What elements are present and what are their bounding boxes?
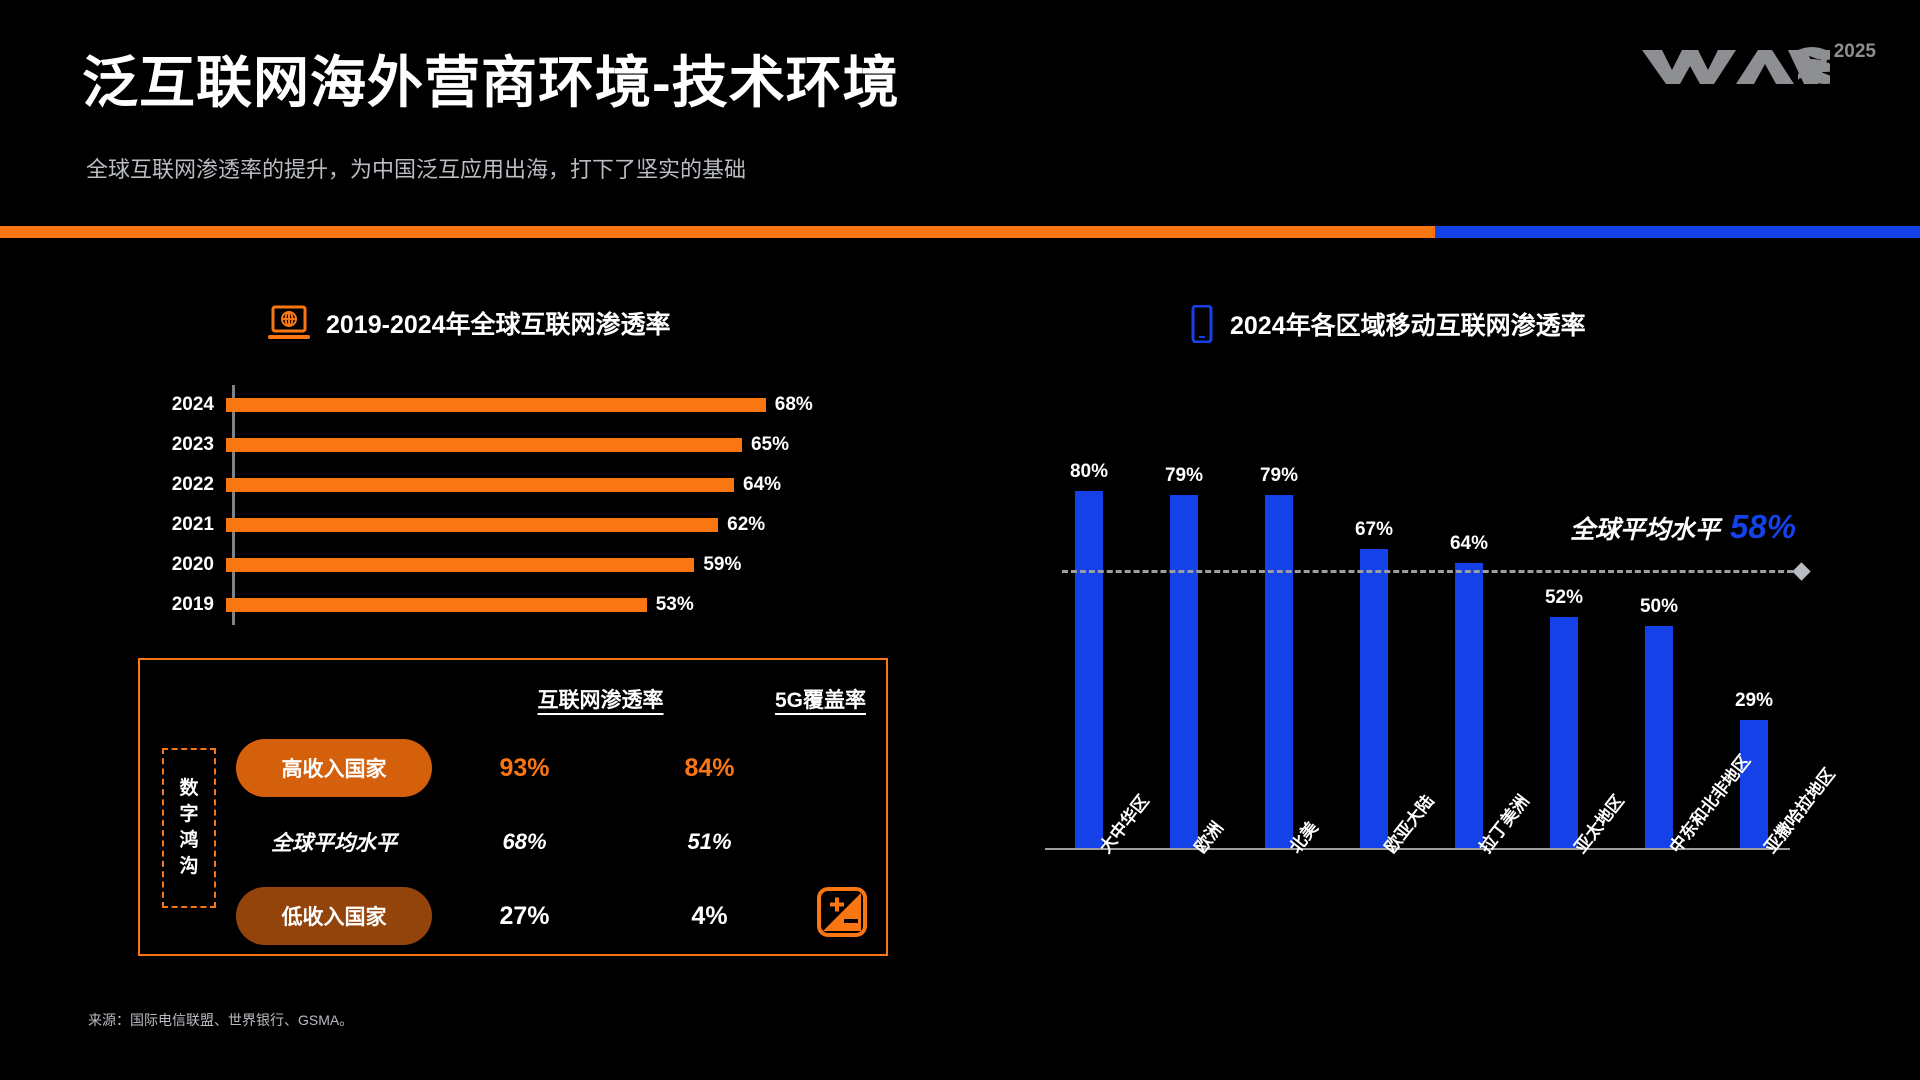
- right-section-heading: 2024年各区域移动互联网渗透率: [1190, 305, 1586, 343]
- divider-orange-segment: [0, 226, 1435, 238]
- bar-value-label: 68%: [775, 394, 813, 416]
- bar-column: 52%: [1533, 420, 1595, 850]
- bar: [1455, 563, 1483, 850]
- bar-container: 64%: [226, 467, 781, 503]
- bar-row: 202468%: [86, 387, 813, 423]
- bar: [226, 598, 647, 612]
- slide-root: 泛互联网海外营商环境-技术环境 全球互联网渗透率的提升，为中国泛互应用出海，打下…: [0, 0, 1920, 1080]
- bar-row: 202264%: [86, 467, 781, 503]
- row-label-global-average: 全球平均水平: [236, 813, 432, 871]
- reference-line-marker: [1792, 562, 1810, 580]
- bar-column: 80%: [1058, 420, 1120, 850]
- wave-logo: 2025: [1640, 40, 1876, 86]
- left-section-heading: 2019-2024年全球互联网渗透率: [268, 305, 671, 341]
- bar: [1550, 617, 1578, 850]
- table-cell: 27%: [432, 902, 617, 931]
- table-cell: 93%: [432, 754, 617, 783]
- bar-category-label: 2024: [86, 394, 226, 416]
- bar-column: 79%: [1248, 420, 1310, 850]
- bar-row: 201953%: [86, 587, 694, 623]
- global-average-value: 58%: [1730, 508, 1796, 546]
- bar-column: 67%: [1343, 420, 1405, 850]
- bar-category-label: 2022: [86, 474, 226, 496]
- bar: [226, 518, 718, 532]
- row-label-high-income: 高收入国家: [236, 739, 432, 797]
- bar: [226, 558, 694, 572]
- bar-category-label: 2020: [86, 554, 226, 576]
- bar: [226, 398, 766, 412]
- global-average-annotation: 全球平均水平 58%: [1570, 508, 1796, 546]
- page-subtitle: 全球互联网渗透率的提升，为中国泛互应用出海，打下了坚实的基础: [86, 152, 746, 184]
- table-column-header: 5G覆盖率: [728, 684, 913, 714]
- bar: [1645, 626, 1673, 850]
- digital-divide-table: 互联网渗透率 5G覆盖率 数 字 鸿 沟 高收入国家 93% 84% 全球平均水…: [138, 658, 888, 956]
- right-section-heading-label: 2024年各区域移动互联网渗透率: [1230, 306, 1586, 342]
- table-column-header: 互联网渗透率: [508, 684, 693, 714]
- bar: [1075, 491, 1103, 850]
- row-label-low-income: 低收入国家: [236, 887, 432, 945]
- bar-row: 202059%: [86, 547, 741, 583]
- bar-category-label: 2023: [86, 434, 226, 456]
- bar-column: 64%: [1438, 420, 1500, 850]
- bar: [1265, 495, 1293, 850]
- table-cell: 4%: [617, 902, 802, 931]
- bar-container: 62%: [226, 507, 765, 543]
- bar-value-label: 65%: [751, 434, 789, 456]
- table-row: 低收入国家 27% 4%: [236, 884, 886, 948]
- side-label-char: 沟: [179, 856, 198, 878]
- bar: [226, 478, 734, 492]
- bar-row: 202162%: [86, 507, 765, 543]
- bar: [1360, 549, 1388, 850]
- global-average-label: 全球平均水平: [1570, 510, 1720, 546]
- bar: [1170, 495, 1198, 850]
- table-row: 高收入国家 93% 84%: [236, 736, 886, 800]
- divider-bar: [0, 226, 1920, 238]
- bar-column: 79%: [1153, 420, 1215, 850]
- global-average-reference-line: [1062, 570, 1802, 573]
- side-label-char: 鸿: [179, 830, 198, 852]
- bar-value-label: 80%: [1070, 461, 1108, 483]
- bar-value-label: 79%: [1165, 465, 1203, 487]
- bar-column: 50%: [1628, 420, 1690, 850]
- laptop-globe-icon: [268, 305, 310, 341]
- side-label-char: 字: [179, 804, 198, 826]
- contrast-plus-minus-icon: [816, 886, 868, 938]
- bar-category-label: 2019: [86, 594, 226, 616]
- left-section-heading-label: 2019-2024年全球互联网渗透率: [326, 305, 671, 341]
- bar-container: 65%: [226, 427, 789, 463]
- table-row: 全球平均水平 68% 51%: [236, 810, 886, 874]
- global-internet-penetration-chart: 202468%202365%202264%202162%202059%20195…: [86, 385, 846, 625]
- bar-value-label: 79%: [1260, 465, 1298, 487]
- bar-value-label: 59%: [703, 554, 741, 576]
- bar-value-label: 64%: [1450, 533, 1488, 555]
- bar-value-label: 67%: [1355, 519, 1393, 541]
- regional-mobile-penetration-chart: 80%79%79%67%64%52%50%29% 全球平均水平 58% 大中华区…: [1040, 400, 1860, 850]
- bar-value-label: 64%: [743, 474, 781, 496]
- logo-year: 2025: [1834, 42, 1876, 61]
- side-label-char: 数: [179, 778, 198, 800]
- bar-row: 202365%: [86, 427, 789, 463]
- wave-wordmark-icon: [1640, 40, 1830, 86]
- page-title: 泛互联网海外营商环境-技术环境: [82, 38, 900, 119]
- bar-value-label: 53%: [656, 594, 694, 616]
- bar-value-label: 62%: [727, 514, 765, 536]
- bar-category-label: 2021: [86, 514, 226, 536]
- table-cell: 84%: [617, 754, 802, 783]
- bar: [1740, 720, 1768, 850]
- digital-divide-side-label: 数 字 鸿 沟: [162, 748, 216, 908]
- divider-blue-segment: [1435, 226, 1920, 238]
- bar-value-label: 50%: [1640, 596, 1678, 618]
- bar-container: 59%: [226, 547, 741, 583]
- bar-container: 68%: [226, 387, 813, 423]
- bar-value-label: 29%: [1735, 690, 1773, 712]
- table-cell: 51%: [617, 829, 802, 855]
- table-cell: 68%: [432, 829, 617, 855]
- bar-container: 53%: [226, 587, 694, 623]
- bar-value-label: 52%: [1545, 587, 1583, 609]
- bar: [226, 438, 742, 452]
- source-note: 来源：国际电信联盟、世界银行、GSMA。: [88, 1010, 353, 1030]
- mobile-phone-icon: [1190, 305, 1214, 343]
